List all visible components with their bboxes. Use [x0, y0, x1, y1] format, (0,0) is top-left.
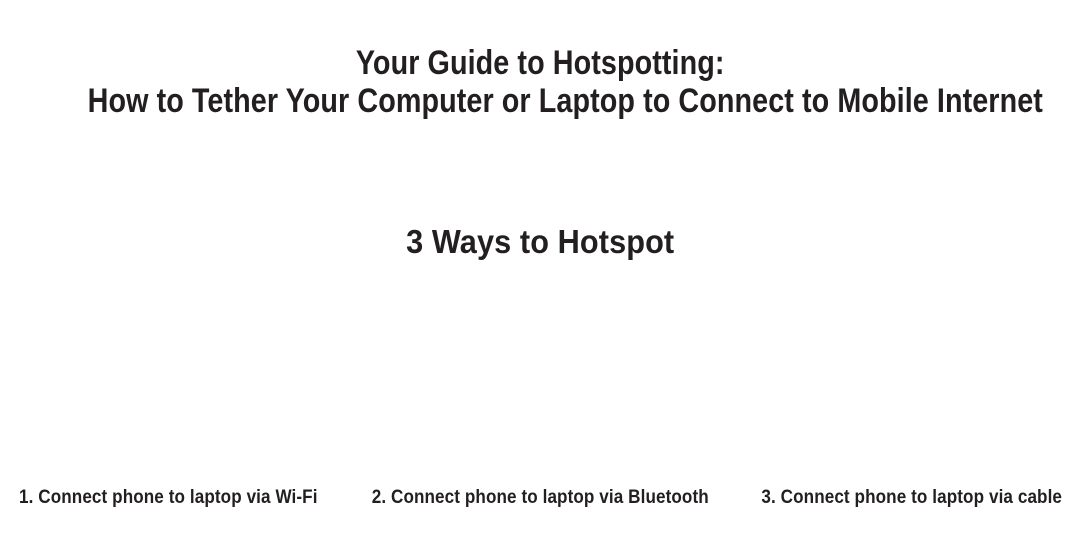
caption-wifi-text: 1. Connect phone to laptop via Wi-Fi — [19, 486, 318, 510]
page-title-line-1: Your Guide to Hotspotting: — [0, 44, 1080, 82]
caption-wifi: 1. Connect phone to laptop via Wi-Fi — [0, 486, 353, 512]
illustration-row — [0, 278, 1080, 476]
infographic-page: Your Guide to Hotspotting: How to Tether… — [0, 0, 1080, 552]
caption-cable: 3. Connect phone to laptop via cable — [728, 486, 1080, 512]
page-title-line-1-text: Your Guide to Hotspotting: — [356, 44, 725, 82]
caption-bluetooth-text: 2. Connect phone to laptop via Bluetooth — [372, 486, 709, 510]
section-heading-text: 3 Ways to Hotspot — [406, 222, 674, 262]
illustration-cable — [720, 278, 1080, 476]
illustration-bluetooth — [360, 278, 720, 476]
caption-cable-text: 3. Connect phone to laptop via cable — [761, 486, 1062, 510]
section-heading: 3 Ways to Hotspot — [0, 222, 1080, 269]
caption-bluetooth: 2. Connect phone to laptop via Bluetooth — [353, 486, 728, 512]
page-title: Your Guide to Hotspotting: How to Tether… — [0, 44, 1080, 120]
caption-row: 1. Connect phone to laptop via Wi-Fi 2. … — [0, 486, 1080, 512]
page-title-line-2-text: How to Tether Your Computer or Laptop to… — [88, 82, 1043, 120]
page-title-line-2: How to Tether Your Computer or Laptop to… — [0, 82, 1080, 120]
illustration-wifi — [0, 278, 360, 476]
